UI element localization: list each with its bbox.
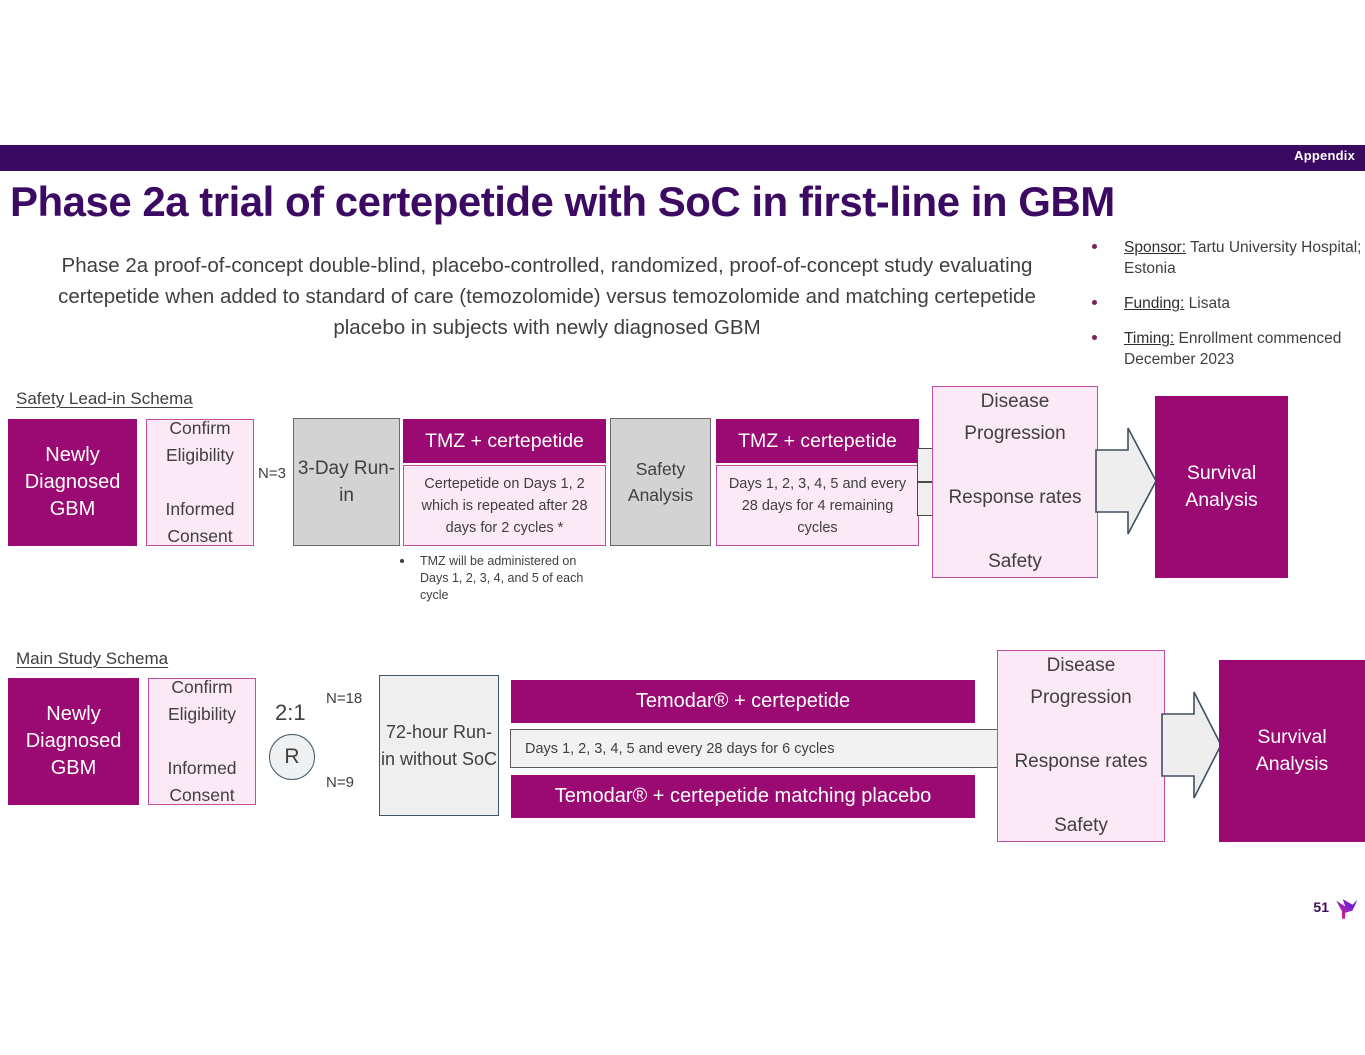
main-dosing-box: Days 1, 2, 3, 4, 5 and every 28 days for… (510, 729, 1000, 768)
safety-eligibility-box: Confirm EligibilityInformed Consent (146, 419, 254, 546)
safety-arm2-title: TMZ + certepetide (716, 419, 919, 463)
fact-sponsor: Sponsor: Tartu University Hospital; Esto… (1088, 237, 1365, 279)
safety-survival-box: Survival Analysis (1155, 396, 1288, 578)
main-eligibility-box: Confirm EligibilityInformed Consent (148, 678, 256, 805)
bullet-dot-icon (1092, 300, 1097, 305)
safety-footnote-text: TMZ will be administered on Days 1, 2, 3… (400, 553, 600, 604)
main-outcomes-box: Disease ProgressionResponse ratesSafety (997, 650, 1165, 842)
appendix-bar: Appendix (0, 145, 1365, 171)
appendix-label: Appendix (1294, 148, 1355, 163)
fact-timing: Timing: Enrollment commenced December 20… (1088, 328, 1365, 370)
fact-label: Sponsor: (1124, 239, 1186, 256)
fact-label: Timing: (1124, 330, 1174, 347)
safety-run-in-box: 3-Day Run-in (293, 418, 400, 546)
main-placebo-arm-box: Temodar® + certepetide matching placebo (511, 775, 975, 818)
study-facts: Sponsor: Tartu University Hospital; Esto… (1088, 237, 1365, 384)
main-enrollment-box: Newly Diagnosed GBM (8, 678, 139, 805)
bullet-dot-icon (400, 559, 404, 563)
main-randomization-ratio: 2:1 (275, 700, 306, 726)
main-survival-box: Survival Analysis (1219, 660, 1365, 842)
safety-arm1-title: TMZ + certepetide (403, 419, 606, 463)
safety-lead-in-section-label: Safety Lead-in Schema (16, 389, 193, 409)
subtitle-text: Phase 2a proof-of-concept double-blind, … (42, 250, 1052, 343)
bullet-dot-icon (1092, 335, 1097, 340)
safety-n-label: N=3 (258, 465, 286, 482)
bullet-dot-icon (1092, 244, 1097, 249)
randomization-circle: R (269, 734, 315, 780)
main-run-in-box: 72-hour Run-in without SoC (379, 675, 499, 816)
main-flow-arrow-icon (1160, 690, 1223, 800)
safety-arm2-detail: Days 1, 2, 3, 4, 5 and every 28 days for… (716, 465, 919, 546)
safety-analysis-box: Safety Analysis (610, 418, 711, 546)
safety-arm1-detail: Certepetide on Days 1, 2 which is repeat… (403, 465, 606, 546)
main-n-top: N=18 (326, 690, 362, 707)
slide-root: Appendix Phase 2a trial of certepetide w… (0, 0, 1365, 1055)
fact-funding: Funding: Lisata (1088, 293, 1365, 314)
fact-value: Lisata (1184, 295, 1230, 312)
safety-footnote: TMZ will be administered on Days 1, 2, 3… (400, 553, 600, 604)
page-number: 51 (1313, 899, 1329, 915)
fact-label: Funding: (1124, 295, 1184, 312)
lisata-bird-logo-icon (1333, 895, 1359, 921)
safety-flow-arrow-icon (1094, 426, 1158, 536)
main-study-section-label: Main Study Schema (16, 649, 168, 669)
safety-enrollment-box: Newly Diagnosed GBM (8, 419, 137, 546)
main-active-arm-box: Temodar® + certepetide (511, 680, 975, 723)
page-title: Phase 2a trial of certepetide with SoC i… (10, 178, 1115, 226)
main-n-bottom: N=9 (326, 774, 354, 791)
safety-outcomes-box: Disease ProgressionResponse ratesSafety (932, 386, 1098, 578)
